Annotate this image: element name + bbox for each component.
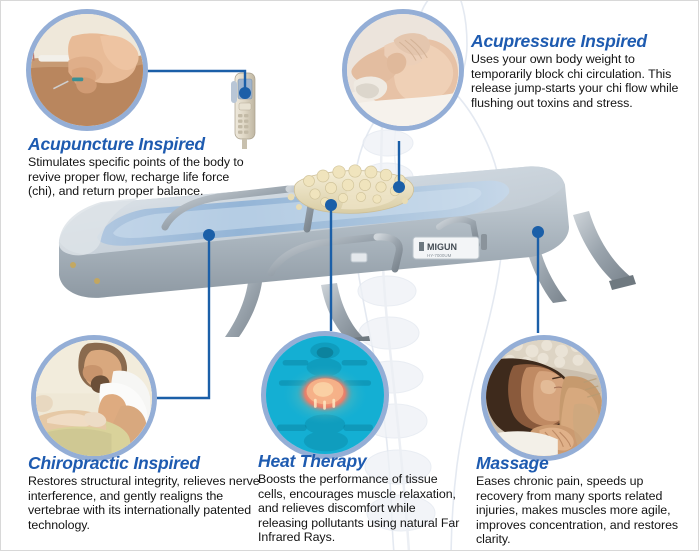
callout-acupuncture: Acupuncture Inspired Stimulates specific… xyxy=(28,134,253,199)
callout-title-acupressure: Acupressure Inspired xyxy=(471,31,699,51)
callout-title-heat-therapy: Heat Therapy xyxy=(258,451,463,471)
callout-title-massage: Massage xyxy=(476,453,691,473)
callout-massage: Massage Eases chronic pain, speeds up re… xyxy=(476,453,691,547)
model-text: HY-7000UM xyxy=(427,253,452,258)
neck-massage-photo xyxy=(481,335,607,461)
callout-body-acupuncture: Stimulates specific points of the body t… xyxy=(28,155,253,199)
callout-acupressure: Acupressure Inspired Uses your own body … xyxy=(471,31,699,110)
callout-chiropractic: Chiropractic Inspired Restores structura… xyxy=(28,453,260,532)
product-brand-plate: MIGUN HY-7000UM xyxy=(413,234,487,259)
callout-body-heat-therapy: Boosts the performance of tissue cells, … xyxy=(258,472,463,545)
infographic-poster: MIGUN HY-7000UM xyxy=(0,0,699,551)
brand-text: MIGUN xyxy=(427,242,457,252)
callout-title-acupuncture: Acupuncture Inspired xyxy=(28,134,253,154)
jade-roller-unit xyxy=(288,165,414,214)
callout-body-chiropractic: Restores structural integrity, relieves … xyxy=(28,474,260,532)
acupuncture-needle-photo xyxy=(26,9,148,131)
thermal-scan-photo xyxy=(261,331,389,459)
chiropractic-adjustment-photo xyxy=(31,335,157,461)
callout-title-chiropractic: Chiropractic Inspired xyxy=(28,453,260,473)
callout-heat-therapy: Heat Therapy Boosts the performance of t… xyxy=(258,451,463,545)
callout-body-massage: Eases chronic pain, speeds up recovery f… xyxy=(476,474,691,547)
acupressure-back-photo xyxy=(342,9,464,131)
callout-body-acupressure: Uses your own body weight to temporarily… xyxy=(471,52,699,110)
